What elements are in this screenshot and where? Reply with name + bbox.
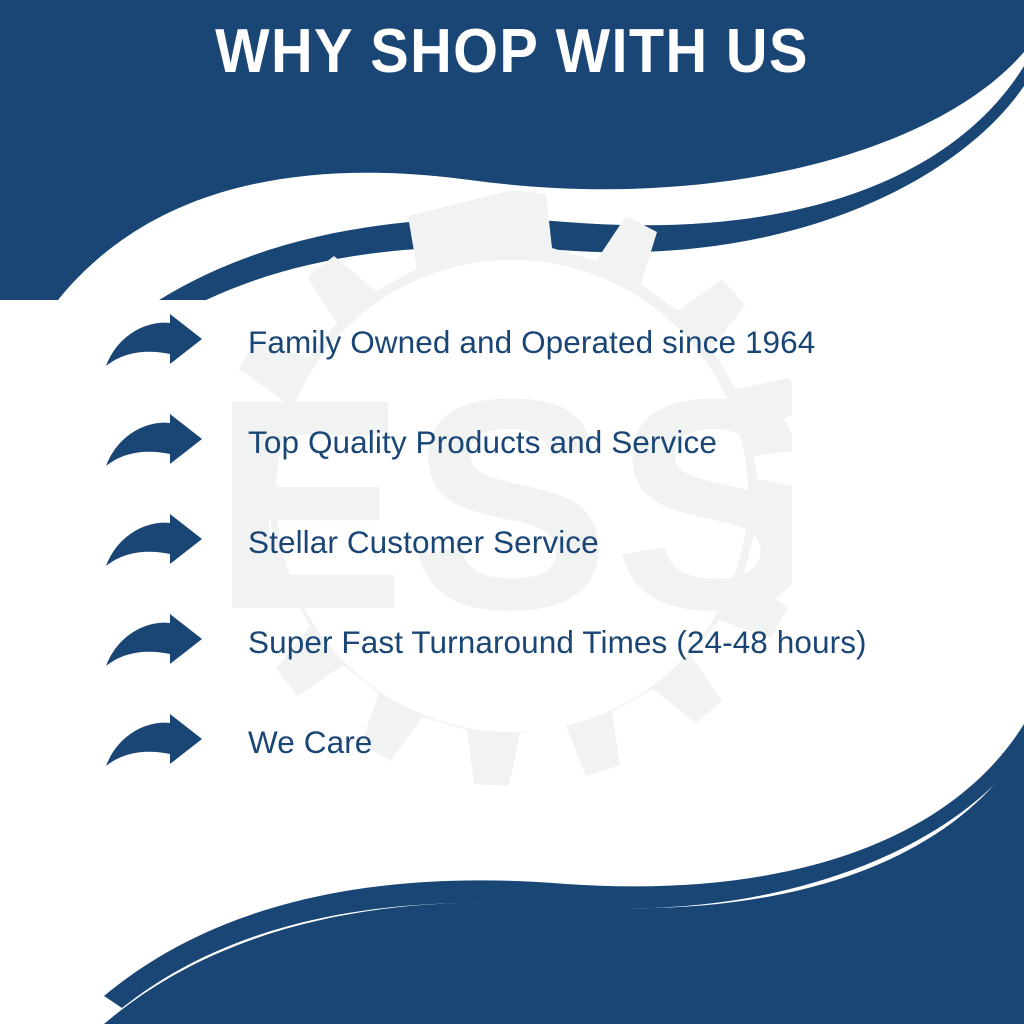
list-item: Family Owned and Operated since 1964 (104, 292, 974, 392)
top-navy-ribbon (104, 66, 1024, 300)
why-shop-with-us-poster: ESS WHY SHOP WITH US Family Owned and Op… (0, 0, 1024, 1024)
list-item: We Care (104, 692, 974, 792)
list-item: Super Fast Turnaround Times (24-48 hours… (104, 592, 974, 692)
curved-arrow-right-icon (104, 714, 204, 770)
curved-arrow-right-icon (104, 614, 204, 670)
list-item-label: We Care (248, 723, 372, 761)
curved-arrow-right-icon (104, 414, 204, 470)
curved-arrow-right-icon (104, 314, 204, 370)
curved-arrow-right-icon (104, 514, 204, 570)
list-item-label: Top Quality Products and Service (248, 423, 717, 461)
list-item-label: Family Owned and Operated since 1964 (248, 323, 815, 361)
list-item: Stellar Customer Service (104, 492, 974, 592)
list-item: Top Quality Products and Service (104, 392, 974, 492)
benefits-list: Family Owned and Operated since 1964 Top… (104, 292, 974, 792)
list-item-label: Super Fast Turnaround Times (24-48 hours… (248, 623, 867, 661)
page-title: WHY SHOP WITH US (36, 16, 988, 88)
list-item-label: Stellar Customer Service (248, 523, 599, 561)
